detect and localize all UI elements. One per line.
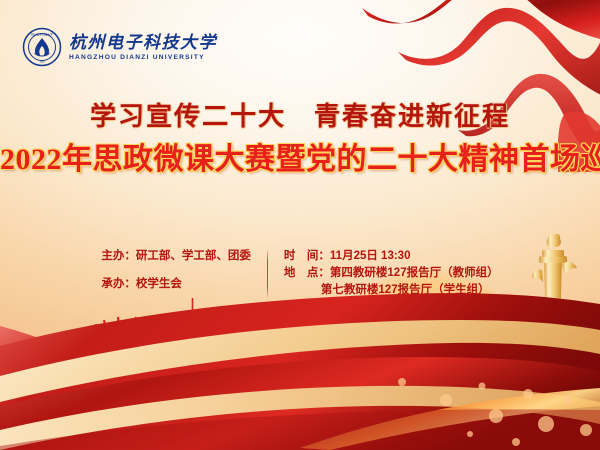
organizer-label: 主办： — [101, 250, 136, 262]
poster-title-block: 学习宣传二十大 青春奋进新征程 2022年思政微课大赛暨党的二十大精神首场巡讲 — [0, 100, 600, 180]
venue-value-student: 第七教研楼127报告厅（学生组） — [321, 284, 490, 296]
co-organizer-row: 承办：校学生会 — [101, 276, 251, 293]
organizer-row: 主办：研工部、学工部、团委 — [101, 248, 251, 265]
venue-value-teacher: 第四教研楼127报告厅（教师组） — [330, 267, 499, 279]
svg-text:1956: 1956 — [39, 62, 45, 64]
venue-label: 地 点： — [284, 267, 330, 279]
poster-main-title: 2022年思政微课大赛暨党的二十大精神首场巡讲 — [0, 140, 600, 180]
schedule-info: 时 间：11月25日 13:30 地 点：第四教研楼127报告厅（教师组） 第七… — [268, 248, 499, 299]
university-name-block: 杭州电子科技大学 HANGZHOU DIANZI UNIVERSITY — [69, 33, 217, 62]
time-value: 11月25日 13:30 — [330, 250, 411, 262]
event-poster: 杭州电子科技大学 1956 杭州电子科技大学 HANGZHOU DIANZI U… — [0, 0, 600, 450]
university-name-en: HANGZHOU DIANZI UNIVERSITY — [69, 53, 217, 62]
university-logo: 杭州电子科技大学 1956 杭州电子科技大学 HANGZHOU DIANZI U… — [22, 27, 217, 67]
co-organizer-label: 承办： — [101, 278, 136, 290]
poster-subtitle: 学习宣传二十大 青春奋进新征程 — [0, 100, 600, 134]
event-info-block: 主办：研工部、学工部、团委 承办：校学生会 时 间：11月25日 13:30 地… — [0, 248, 600, 299]
time-label: 时 间： — [284, 250, 330, 262]
time-row: 时 间：11月25日 13:30 — [284, 248, 499, 265]
organizer-info: 主办：研工部、学工部、团委 承办：校学生会 — [101, 248, 267, 293]
organizer-value: 研工部、学工部、团委 — [136, 250, 251, 262]
university-emblem-icon: 杭州电子科技大学 1956 — [22, 27, 62, 67]
venue-row-teacher: 地 点：第四教研楼127报告厅（教师组） — [284, 265, 499, 282]
light-bokeh-dots-decor — [350, 360, 600, 450]
venue-row-student: 第七教研楼127报告厅（学生组） — [284, 282, 499, 299]
co-organizer-value: 校学生会 — [136, 278, 182, 290]
university-name-cn: 杭州电子科技大学 — [69, 33, 217, 52]
svg-text:杭州电子科技大学: 杭州电子科技大学 — [31, 32, 53, 36]
